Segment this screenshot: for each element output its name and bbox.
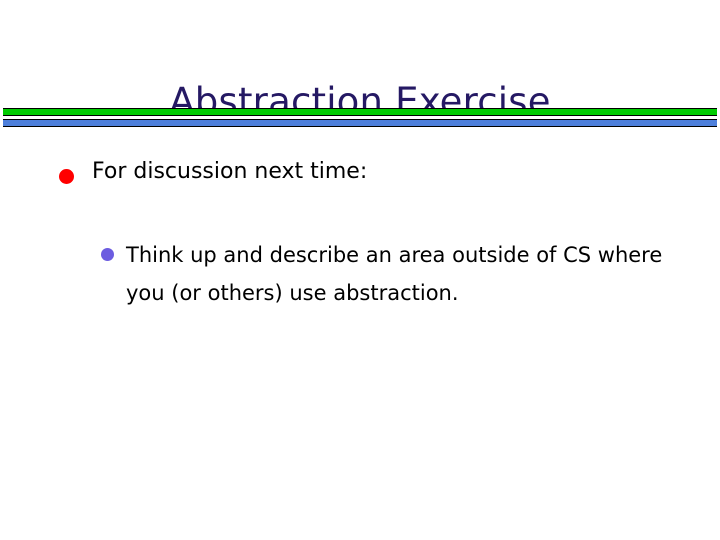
blue-rule [3, 119, 717, 127]
bullet-marker-purple-circle-icon [101, 248, 114, 261]
bullet-item-level2: Think up and describe an area outside of… [0, 236, 720, 312]
presentation-slide: Abstraction Exercise For discussion next… [0, 0, 720, 540]
bullet-text-level1: For discussion next time: [92, 152, 720, 192]
green-rule [3, 108, 717, 116]
bullet-marker-red-circle-icon [59, 169, 74, 184]
bullet-text-level2: Think up and describe an area outside of… [126, 236, 666, 312]
slide-body: For discussion next time: Think up and d… [0, 152, 720, 312]
title-divider-group [0, 108, 720, 128]
bullet-item-level1: For discussion next time: [0, 152, 720, 192]
